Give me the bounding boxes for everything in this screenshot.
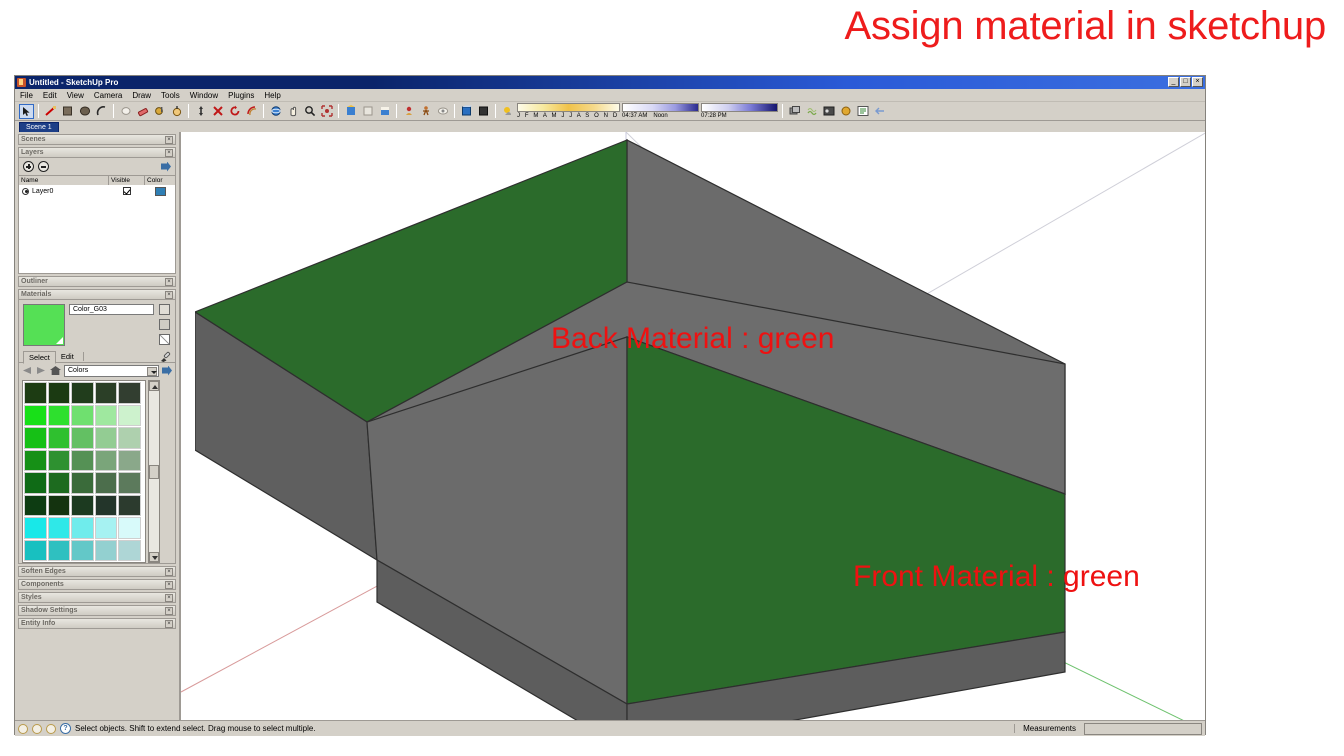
material-swatch[interactable] — [24, 517, 47, 539]
display-section-icon[interactable] — [476, 104, 491, 119]
circle-icon[interactable] — [77, 104, 92, 119]
layers-icon[interactable] — [787, 104, 802, 119]
toolbar-separator — [396, 104, 397, 118]
material-swatch[interactable] — [48, 472, 71, 494]
divider — [83, 352, 84, 361]
sketchup-app-icon — [17, 78, 26, 87]
shadow-time-strip-1[interactable] — [622, 103, 699, 112]
material-swatch[interactable] — [95, 472, 118, 494]
material-swatch[interactable] — [48, 540, 71, 562]
material-swatch[interactable] — [24, 427, 47, 449]
tray-shadow-settings[interactable]: Shadow Settings × — [18, 605, 176, 616]
window-titlebar: Untitled - SketchUp Pro _ □ × — [15, 76, 1205, 89]
material-swatch[interactable] — [24, 450, 47, 472]
paint-bucket-icon[interactable] — [152, 104, 167, 119]
layers-column-headers: Name Visible Color — [19, 175, 175, 185]
material-swatch[interactable] — [71, 517, 94, 539]
layers-col-color: Color — [145, 176, 175, 185]
back-icon[interactable] — [872, 104, 887, 119]
close-icon[interactable]: × — [165, 568, 173, 576]
material-swatch[interactable] — [48, 517, 71, 539]
material-swatch-area — [22, 380, 172, 563]
rectangle-icon[interactable] — [60, 104, 75, 119]
menubar: File Edit View Camera Draw Tools Window … — [15, 89, 1205, 102]
table-row[interactable]: Layer0 — [19, 185, 175, 197]
look-around-icon[interactable] — [435, 104, 450, 119]
toolbar-separator — [263, 104, 264, 118]
toolbar-separator — [338, 104, 339, 118]
layer-details-button[interactable] — [161, 162, 171, 172]
material-scrollbar[interactable] — [148, 380, 160, 563]
material-current-row: Color_G03 — [19, 300, 175, 350]
slide-root: Assign material in sketchup Untitled - S… — [0, 0, 1344, 756]
toolbar-separator — [495, 104, 496, 118]
material-swatch-grid[interactable] — [22, 380, 146, 563]
scroll-down-icon[interactable] — [149, 552, 159, 562]
materials-tabs: Select Edit — [19, 350, 175, 363]
close-icon[interactable]: × — [165, 149, 173, 157]
add-layer-button[interactable] — [23, 161, 34, 172]
measurements-label: Measurements — [1014, 724, 1084, 733]
shadow-time-strip-2[interactable] — [701, 103, 778, 112]
remove-layer-button[interactable] — [38, 161, 49, 172]
section-plane-icon[interactable] — [459, 104, 474, 119]
outliner-icon[interactable] — [855, 104, 870, 119]
tray-components-label: Components — [21, 580, 64, 590]
help-icon[interactable]: ? — [60, 723, 71, 734]
window-controls: _ □ × — [1168, 77, 1203, 87]
line-pencil-icon[interactable] — [43, 104, 58, 119]
material-swatch[interactable] — [95, 427, 118, 449]
shadow-time-start: 04:37 AM — [622, 112, 647, 120]
status-circle-1-icon[interactable] — [18, 724, 28, 734]
close-icon[interactable]: × — [165, 291, 173, 299]
status-circle-2-icon[interactable] — [32, 724, 42, 734]
status-right-group: Measurements — [1014, 723, 1202, 735]
shadow-time-noon: Noon — [653, 112, 667, 120]
tray-soften-edges-label: Soften Edges — [21, 567, 66, 577]
close-icon[interactable]: × — [165, 594, 173, 602]
menu-file[interactable]: File — [20, 89, 33, 102]
tray-layers[interactable]: Layers × — [18, 147, 176, 158]
tab-scene-1[interactable]: Scene 1 — [19, 122, 59, 132]
materials-navigation: Colors — [19, 363, 175, 378]
toolbar-separator — [782, 104, 783, 118]
menu-window[interactable]: Window — [190, 89, 218, 102]
top-view-icon[interactable] — [360, 104, 375, 119]
tray-scenes-label: Scenes — [21, 135, 46, 145]
main-toolbar: J F M A M J J A S O N D 04:37 AM Noon 07… — [15, 102, 1205, 121]
material-swatch[interactable] — [71, 382, 94, 404]
chevron-down-icon[interactable] — [147, 367, 157, 376]
default-material-icon[interactable] — [159, 334, 170, 345]
menu-plugins[interactable]: Plugins — [228, 89, 254, 102]
model-viewport[interactable]: Back Material : green Front Material : g… — [180, 132, 1205, 720]
styles-icon[interactable] — [821, 104, 836, 119]
paint-bucket-icon[interactable] — [159, 319, 170, 330]
toolbar-separator — [454, 104, 455, 118]
layers-toolbar — [19, 158, 175, 175]
material-swatch[interactable] — [118, 450, 141, 472]
work-area: Scenes × Layers × Name Visib — [15, 132, 1205, 720]
shadow-toggle-icon[interactable] — [500, 104, 515, 119]
eyedropper-icon[interactable] — [159, 350, 171, 362]
tray-scenes[interactable]: Scenes × — [18, 134, 176, 145]
shadow-date-slider[interactable]: J F M A M J J A S O N D — [517, 103, 620, 120]
material-swatch[interactable] — [71, 472, 94, 494]
measurements-input[interactable] — [1084, 723, 1202, 735]
soften-icon[interactable] — [838, 104, 853, 119]
tray-outliner[interactable]: Outliner × — [18, 276, 176, 287]
material-swatch[interactable] — [24, 540, 47, 562]
arc-icon[interactable] — [94, 104, 109, 119]
material-swatch[interactable] — [71, 540, 94, 562]
mask-left — [181, 282, 195, 462]
material-library-value: Colors — [68, 365, 88, 376]
iso-view-icon[interactable] — [343, 104, 358, 119]
tray-materials[interactable]: Materials × — [18, 289, 176, 300]
material-swatch[interactable] — [71, 427, 94, 449]
material-name-input[interactable]: Color_G03 — [69, 304, 154, 315]
scrollbar-thumb[interactable] — [149, 465, 159, 479]
tray-shadow-settings-label: Shadow Settings — [21, 606, 77, 616]
scroll-up-icon[interactable] — [149, 381, 159, 391]
close-icon[interactable]: × — [165, 607, 173, 615]
shadow-time-slider-1[interactable]: 04:37 AM Noon — [622, 103, 699, 120]
scene-tab-bar: Scene 1 — [15, 121, 1205, 132]
layer-visible-checkbox[interactable] — [123, 187, 131, 195]
material-swatch[interactable] — [95, 405, 118, 427]
material-swatch[interactable] — [24, 495, 47, 517]
close-icon[interactable]: × — [165, 278, 173, 286]
close-icon[interactable]: × — [165, 136, 173, 144]
move-icon[interactable] — [193, 104, 208, 119]
eraser-icon[interactable] — [135, 104, 150, 119]
slide-title: Assign material in sketchup — [845, 4, 1327, 49]
sketchup-window: Untitled - SketchUp Pro _ □ × File Edit … — [14, 75, 1206, 735]
menu-tools[interactable]: Tools — [161, 89, 180, 102]
tray-styles[interactable]: Styles × — [18, 592, 176, 603]
layers-list: Layer0 — [19, 185, 175, 273]
status-bar: ? Select objects. Shift to extend select… — [15, 720, 1205, 736]
layer-color-swatch[interactable] — [155, 187, 166, 196]
material-swatch[interactable] — [48, 450, 71, 472]
menu-help[interactable]: Help — [264, 89, 280, 102]
material-swatch[interactable] — [118, 427, 141, 449]
orbit-icon[interactable] — [268, 104, 283, 119]
back-arrow-icon[interactable] — [22, 365, 33, 376]
tab-select[interactable]: Select — [23, 351, 56, 364]
tray-soften-edges[interactable]: Soften Edges × — [18, 566, 176, 577]
tray-entity-info[interactable]: Entity Info × — [18, 618, 176, 629]
model-tube — [195, 140, 1065, 720]
material-swatch[interactable] — [24, 405, 47, 427]
close-button[interactable]: × — [1192, 77, 1203, 87]
layers-panel-body: Name Visible Color Layer0 — [18, 158, 176, 274]
maximize-button[interactable]: □ — [1180, 77, 1191, 87]
material-swatch[interactable] — [24, 382, 47, 404]
home-icon[interactable] — [50, 365, 61, 376]
toolbar-separator — [38, 104, 39, 118]
material-swatch[interactable] — [48, 495, 71, 517]
model-canvas[interactable] — [181, 132, 1205, 720]
polygon-icon[interactable] — [118, 104, 133, 119]
material-library-select[interactable]: Colors — [64, 365, 159, 377]
material-swatch[interactable] — [48, 382, 71, 404]
close-icon[interactable]: × — [165, 581, 173, 589]
menu-edit[interactable]: Edit — [43, 89, 57, 102]
tray-components[interactable]: Components × — [18, 579, 176, 590]
menu-draw[interactable]: Draw — [132, 89, 151, 102]
material-swatch[interactable] — [48, 405, 71, 427]
position-camera-icon[interactable] — [401, 104, 416, 119]
fog-icon[interactable] — [804, 104, 819, 119]
toolbar-separator — [113, 104, 114, 118]
material-swatch[interactable] — [118, 540, 141, 562]
close-icon[interactable]: × — [165, 620, 173, 628]
tray-outliner-label: Outliner — [21, 277, 48, 287]
window-title: Untitled - SketchUp Pro — [29, 76, 118, 89]
active-layer-radio[interactable] — [22, 188, 29, 195]
material-side-buttons — [158, 304, 171, 346]
status-circle-3-icon[interactable] — [46, 724, 56, 734]
material-swatch[interactable] — [118, 517, 141, 539]
material-swatch[interactable] — [118, 472, 141, 494]
material-swatch[interactable] — [118, 495, 141, 517]
layer-name: Layer0 — [32, 188, 53, 195]
menu-camera[interactable]: Camera — [94, 89, 122, 102]
material-swatch[interactable] — [95, 450, 118, 472]
material-swatch[interactable] — [71, 495, 94, 517]
materials-details-button[interactable] — [162, 366, 172, 376]
material-swatch[interactable] — [71, 450, 94, 472]
status-hint-text: Select objects. Shift to extend select. … — [75, 724, 316, 733]
tray-layers-label: Layers — [21, 148, 44, 158]
material-swatch[interactable] — [71, 405, 94, 427]
material-preview-swatch[interactable] — [23, 304, 65, 346]
material-swatch[interactable] — [118, 382, 141, 404]
model-overlay-correction — [181, 282, 195, 462]
material-swatch[interactable] — [118, 405, 141, 427]
pan-icon[interactable] — [285, 104, 300, 119]
menu-view[interactable]: View — [67, 89, 84, 102]
shadow-time-end: 07:28 PM — [701, 112, 778, 120]
select-arrow-icon[interactable] — [19, 104, 34, 119]
front-view-icon[interactable] — [377, 104, 392, 119]
material-swatch[interactable] — [95, 540, 118, 562]
walk-icon[interactable] — [418, 104, 433, 119]
annotation-back-material: Back Material : green — [551, 322, 834, 356]
zoom-icon[interactable] — [302, 104, 317, 119]
tab-edit[interactable]: Edit — [56, 351, 79, 362]
create-material-icon[interactable] — [159, 304, 170, 315]
push-pull-icon[interactable] — [169, 104, 184, 119]
rotate-icon[interactable] — [227, 104, 242, 119]
material-swatch[interactable] — [24, 472, 47, 494]
tray-materials-label: Materials — [21, 290, 51, 300]
tray-entity-info-label: Entity Info — [21, 619, 55, 629]
scale-icon[interactable] — [210, 104, 225, 119]
material-swatch[interactable] — [95, 382, 118, 404]
left-dock: Scenes × Layers × Name Visib — [15, 132, 180, 720]
layers-col-name: Name — [19, 176, 109, 185]
minimize-button[interactable]: _ — [1168, 77, 1179, 87]
shadow-time-slider-2[interactable]: 07:28 PM — [701, 103, 778, 120]
material-swatch[interactable] — [95, 495, 118, 517]
materials-panel-body: Color_G03 Select Edit — [18, 300, 176, 564]
material-swatch[interactable] — [48, 427, 71, 449]
annotation-front-material: Front Material : green — [853, 560, 1140, 594]
tray-styles-label: Styles — [21, 593, 42, 603]
toolbar-separator — [188, 104, 189, 118]
offset-icon[interactable] — [244, 104, 259, 119]
forward-arrow-icon[interactable] — [36, 365, 47, 376]
shadow-month-strip[interactable] — [517, 103, 620, 112]
layers-col-visible: Visible — [109, 176, 145, 185]
zoom-extents-icon[interactable] — [319, 104, 334, 119]
shadow-month-ticks: J F M A M J J A S O N D — [517, 112, 620, 120]
material-swatch[interactable] — [95, 517, 118, 539]
